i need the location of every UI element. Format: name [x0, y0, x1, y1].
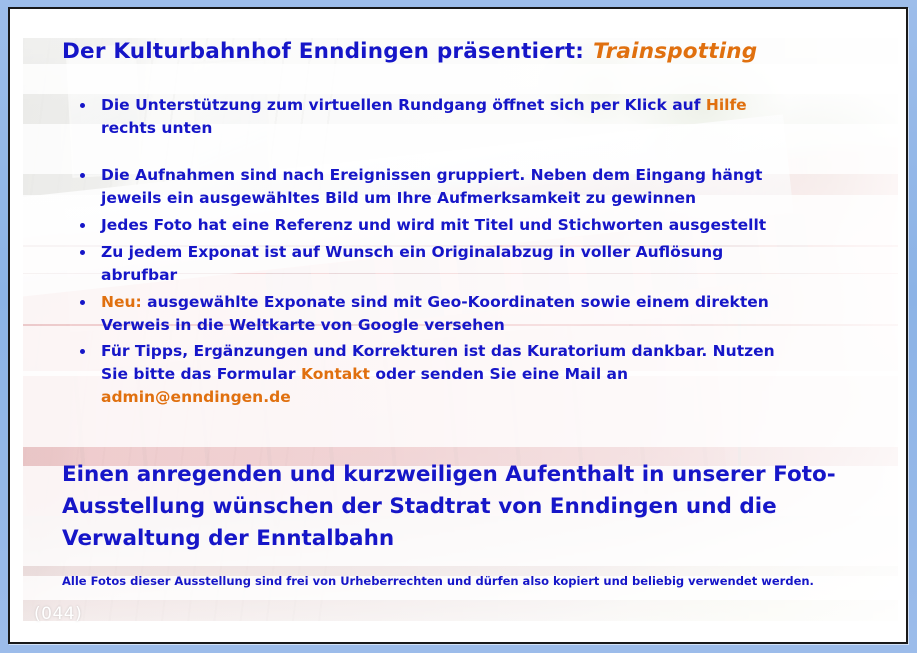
highlighted-text: admin@enndingen.de [101, 388, 291, 406]
highlighted-text: Hilfe [706, 96, 747, 114]
bullet-group-2: Die Aufnahmen sind nach Ereignissen grup… [78, 164, 778, 341]
copyright-note: Alle Fotos dieser Ausstellung sind frei … [62, 574, 814, 588]
slide-page: Der Kulturbahnhof Enndingen präsentiert:… [10, 9, 906, 642]
closing-statement: Einen anregenden und kurzweiligen Aufent… [62, 459, 862, 555]
bullet-text: Die Unterstützung zum virtuellen Rundgan… [101, 96, 747, 137]
bullet-dot-icon [80, 349, 85, 354]
bullet-text: Für Tipps, Ergänzungen und Korrekturen i… [101, 342, 775, 406]
slide-title: Der Kulturbahnhof Enndingen präsentiert:… [62, 39, 757, 64]
highlighted-text: Neu: [101, 293, 142, 311]
body-text: Zu jedem Exponat ist auf Wunsch ein Orig… [101, 243, 723, 284]
bullet-dot-icon [80, 103, 85, 108]
list-item: Die Aufnahmen sind nach Ereignissen grup… [78, 164, 778, 210]
highlighted-text: Kontakt [301, 365, 370, 383]
bullet-list-3: Für Tipps, Ergänzungen und Korrekturen i… [78, 340, 778, 409]
bullet-text: Neu: ausgewählte Exponate sind mit Geo-K… [101, 293, 769, 334]
bullet-dot-icon [80, 250, 85, 255]
bullet-list-1: Die Unterstützung zum virtuellen Rundgan… [78, 94, 778, 140]
bullet-dot-icon [80, 173, 85, 178]
slide-content: Der Kulturbahnhof Enndingen präsentiert:… [10, 9, 906, 642]
body-text: oder senden Sie eine Mail an [370, 365, 628, 383]
bullet-dot-icon [80, 223, 85, 228]
body-text: Die Aufnahmen sind nach Ereignissen grup… [101, 166, 762, 207]
bullet-group-3: Für Tipps, Ergänzungen und Korrekturen i… [78, 340, 778, 413]
page-number: (044) [34, 604, 82, 624]
list-item: Zu jedem Exponat ist auf Wunsch ein Orig… [78, 241, 778, 287]
body-text: Die Unterstützung zum virtuellen Rundgan… [101, 96, 706, 114]
bullet-dot-icon [80, 300, 85, 305]
slide-page-border: Der Kulturbahnhof Enndingen präsentiert:… [8, 7, 908, 644]
bullet-text: Jedes Foto hat eine Referenz und wird mi… [101, 216, 766, 234]
bullet-group-1: Die Unterstützung zum virtuellen Rundgan… [78, 94, 778, 144]
slide-title-main: Der Kulturbahnhof Enndingen präsentiert: [62, 39, 584, 64]
body-text: rechts unten [101, 119, 212, 137]
bullet-text: Die Aufnahmen sind nach Ereignissen grup… [101, 166, 762, 207]
list-item: Für Tipps, Ergänzungen und Korrekturen i… [78, 340, 778, 409]
bullet-text: Zu jedem Exponat ist auf Wunsch ein Orig… [101, 243, 723, 284]
body-text: ausgewählte Exponate sind mit Geo-Koordi… [101, 293, 769, 334]
list-item: Jedes Foto hat eine Referenz und wird mi… [78, 214, 778, 237]
list-item: Die Unterstützung zum virtuellen Rundgan… [78, 94, 778, 140]
body-text: Jedes Foto hat eine Referenz und wird mi… [101, 216, 766, 234]
bullet-list-2: Die Aufnahmen sind nach Ereignissen grup… [78, 164, 778, 337]
slide-viewer: Der Kulturbahnhof Enndingen präsentiert:… [0, 0, 917, 653]
slide-title-accent: Trainspotting [593, 39, 757, 64]
list-item: Neu: ausgewählte Exponate sind mit Geo-K… [78, 291, 778, 337]
